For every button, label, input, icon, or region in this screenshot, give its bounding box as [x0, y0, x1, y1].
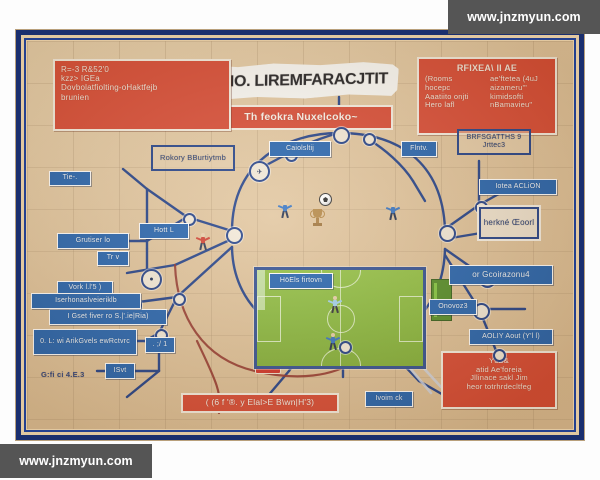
node-right-5[interactable]: or Gcoirazonu4	[449, 265, 553, 285]
football-icon	[319, 193, 332, 206]
poster-title: WIO. LIREMFARACJTIT	[214, 70, 387, 92]
node-left-3-label: Grutiser lo	[76, 237, 111, 245]
pitch-penalty-box-right	[399, 296, 423, 342]
node-right-6-label: Onovoz3	[438, 303, 467, 311]
link-dot-bottom[interactable]	[339, 341, 352, 354]
node-left-3[interactable]: Grutiser lo	[57, 233, 129, 249]
panel-bottom-center: ( (6 f '®. y Elal>E B\wn|H'3)	[181, 393, 339, 413]
panel-top-left-line4: brunien	[61, 93, 223, 102]
node-right-7-label: AOLIY Aout (Y'l l)	[482, 333, 540, 341]
node-right-6[interactable]: Onovoz3	[429, 299, 477, 315]
node-right-1[interactable]: Flntv.	[401, 141, 437, 157]
node-right-2-label: BRFSGATTHS 9 Jrttec3	[462, 134, 526, 150]
pitch-penalty-box-left	[257, 296, 281, 342]
node-right-4[interactable]: herkné Œoorl	[479, 207, 539, 239]
node-left-2[interactable]: Tie-.	[49, 171, 91, 186]
node-right-5-label: or Gcoirazonu4	[472, 270, 530, 279]
watermark-bottom-left: www.jnzmyun.com	[0, 444, 152, 478]
node-center-2-label: HöEls firtovn	[280, 277, 322, 285]
node-right-3[interactable]: Iotea ACLiON	[479, 179, 557, 195]
panel-bottom-right-line4: heor totrhrdecltfeg	[449, 383, 549, 392]
node-left-1[interactable]: Rokory BBurtiytmb	[151, 145, 235, 171]
figure-red-left	[197, 233, 209, 253]
node-left-8[interactable]: Iserhonaslveieriklb	[31, 293, 141, 309]
link-dot-left-b[interactable]: ●	[141, 269, 162, 290]
node-left-5[interactable]: Tr v	[97, 251, 129, 266]
node-right-2[interactable]: BRFSGATTHS 9 Jrttec3	[457, 129, 531, 155]
link-dot-top-right[interactable]	[363, 133, 376, 146]
poster-subtitle: Th feokra Nuxelcoko~	[244, 111, 357, 123]
panel-top-left: R=-3 R&52'0 kzz> IGEa Dovbolatfiolting-o…	[53, 59, 231, 131]
hub-dot-left[interactable]	[226, 227, 243, 244]
watermark-bottom-left-text: www.jnzmyun.com	[19, 454, 133, 468]
panel-top-right-c2l4: nBamavieu"	[490, 101, 549, 110]
node-right-7[interactable]: AOLIY Aout (Y'l l)	[469, 329, 553, 345]
node-right-3-label: Iotea ACLiON	[495, 183, 540, 191]
node-left-9[interactable]: 0. L: wi ArikGvels ewRctvrc	[33, 329, 137, 355]
panel-top-left-line3: Dovbolatfiolting-oHaktfejb	[61, 83, 223, 92]
node-left-8-label: Iserhonaslveieriklb	[55, 297, 117, 305]
node-left-11[interactable]: ISvt	[105, 363, 135, 379]
node-left-4-label: Hott L	[154, 227, 174, 235]
node-left-10-label: . ;/ 1	[153, 341, 168, 349]
panel-top-right-c1l4: Hero lafl	[425, 101, 484, 110]
node-center-2[interactable]: HöEls firtovn	[269, 273, 333, 289]
node-right-1-label: Flntv.	[410, 145, 428, 153]
link-dot-whistle[interactable]: ✈	[249, 161, 270, 182]
node-left-5-label: Tr v	[107, 254, 120, 262]
link-dot-left-d[interactable]	[173, 293, 186, 306]
poster-subtitle-bar: Th feokra Nuxelcoko~	[209, 105, 393, 130]
poster-title-banner: WIO. LIREMFARACJTIT	[203, 61, 400, 101]
node-left-1-label: Rokory BBurtiytmb	[160, 154, 226, 163]
poster-canvas: WIO. LIREMFARACJTIT Th feokra Nuxelcoko~…	[27, 41, 573, 429]
node-left-11-label: ISvt	[114, 367, 127, 375]
node-right-8[interactable]: Ivoim ck	[365, 391, 413, 407]
player-on-pitch	[329, 296, 341, 316]
watermark-top-right-text: www.jnzmyun.com	[467, 10, 581, 24]
figure-blue-upper-left	[279, 201, 291, 221]
node-left-12: G:fi ci 4.E.3	[41, 371, 101, 380]
figure-blue-lower	[327, 333, 339, 355]
node-center-1[interactable]: Caiolsltij	[269, 141, 331, 157]
pitch-goal-left	[257, 270, 265, 290]
node-right-8-label: Ivoim ck	[375, 395, 402, 403]
node-left-12-label: G:fi ci 4.E.3	[41, 370, 84, 379]
hub-dot-top[interactable]	[333, 127, 350, 144]
poster-frame: WIO. LIREMFARACJTIT Th feokra Nuxelcoko~…	[16, 30, 584, 440]
screenshot-root: WIO. LIREMFARACJTIT Th feokra Nuxelcoko~…	[0, 0, 600, 480]
node-left-9-label: 0. L: wi ArikGvels ewRctvrc	[40, 338, 130, 346]
trophy-icon	[311, 209, 324, 227]
node-left-10[interactable]: . ;/ 1	[145, 337, 175, 353]
node-left-2-label: Tie-.	[63, 174, 78, 182]
node-center-1-label: Caiolsltij	[286, 145, 314, 153]
panel-top-left-line1: R=-3 R&52'0	[61, 65, 223, 74]
node-left-7-label: I Gset fiver ro S.|'.ie|Ria)	[67, 313, 148, 321]
panel-top-right-heading: RFIXEA\ II AE	[425, 63, 549, 73]
link-dot-right-e[interactable]	[493, 349, 506, 362]
panel-top-left-line2: kzz> IGEa	[61, 74, 223, 83]
node-right-4-label: herkné Œoorl	[484, 218, 534, 227]
watermark-top-right: www.jnzmyun.com	[448, 0, 600, 34]
panel-top-right: RFIXEA\ II AE (Rooms hocepc Aaatiito onj…	[417, 57, 557, 135]
node-left-6-label: Vork l.l'5 )	[69, 284, 102, 292]
figure-blue-upper-right	[387, 203, 399, 225]
node-left-7[interactable]: I Gset fiver ro S.|'.ie|Ria)	[49, 309, 167, 325]
node-left-4[interactable]: Hott L	[139, 223, 189, 239]
panel-bottom-center-label: ( (6 f '®. y Elal>E B\wn|H'3)	[206, 398, 314, 408]
hub-dot-right[interactable]	[439, 225, 456, 242]
